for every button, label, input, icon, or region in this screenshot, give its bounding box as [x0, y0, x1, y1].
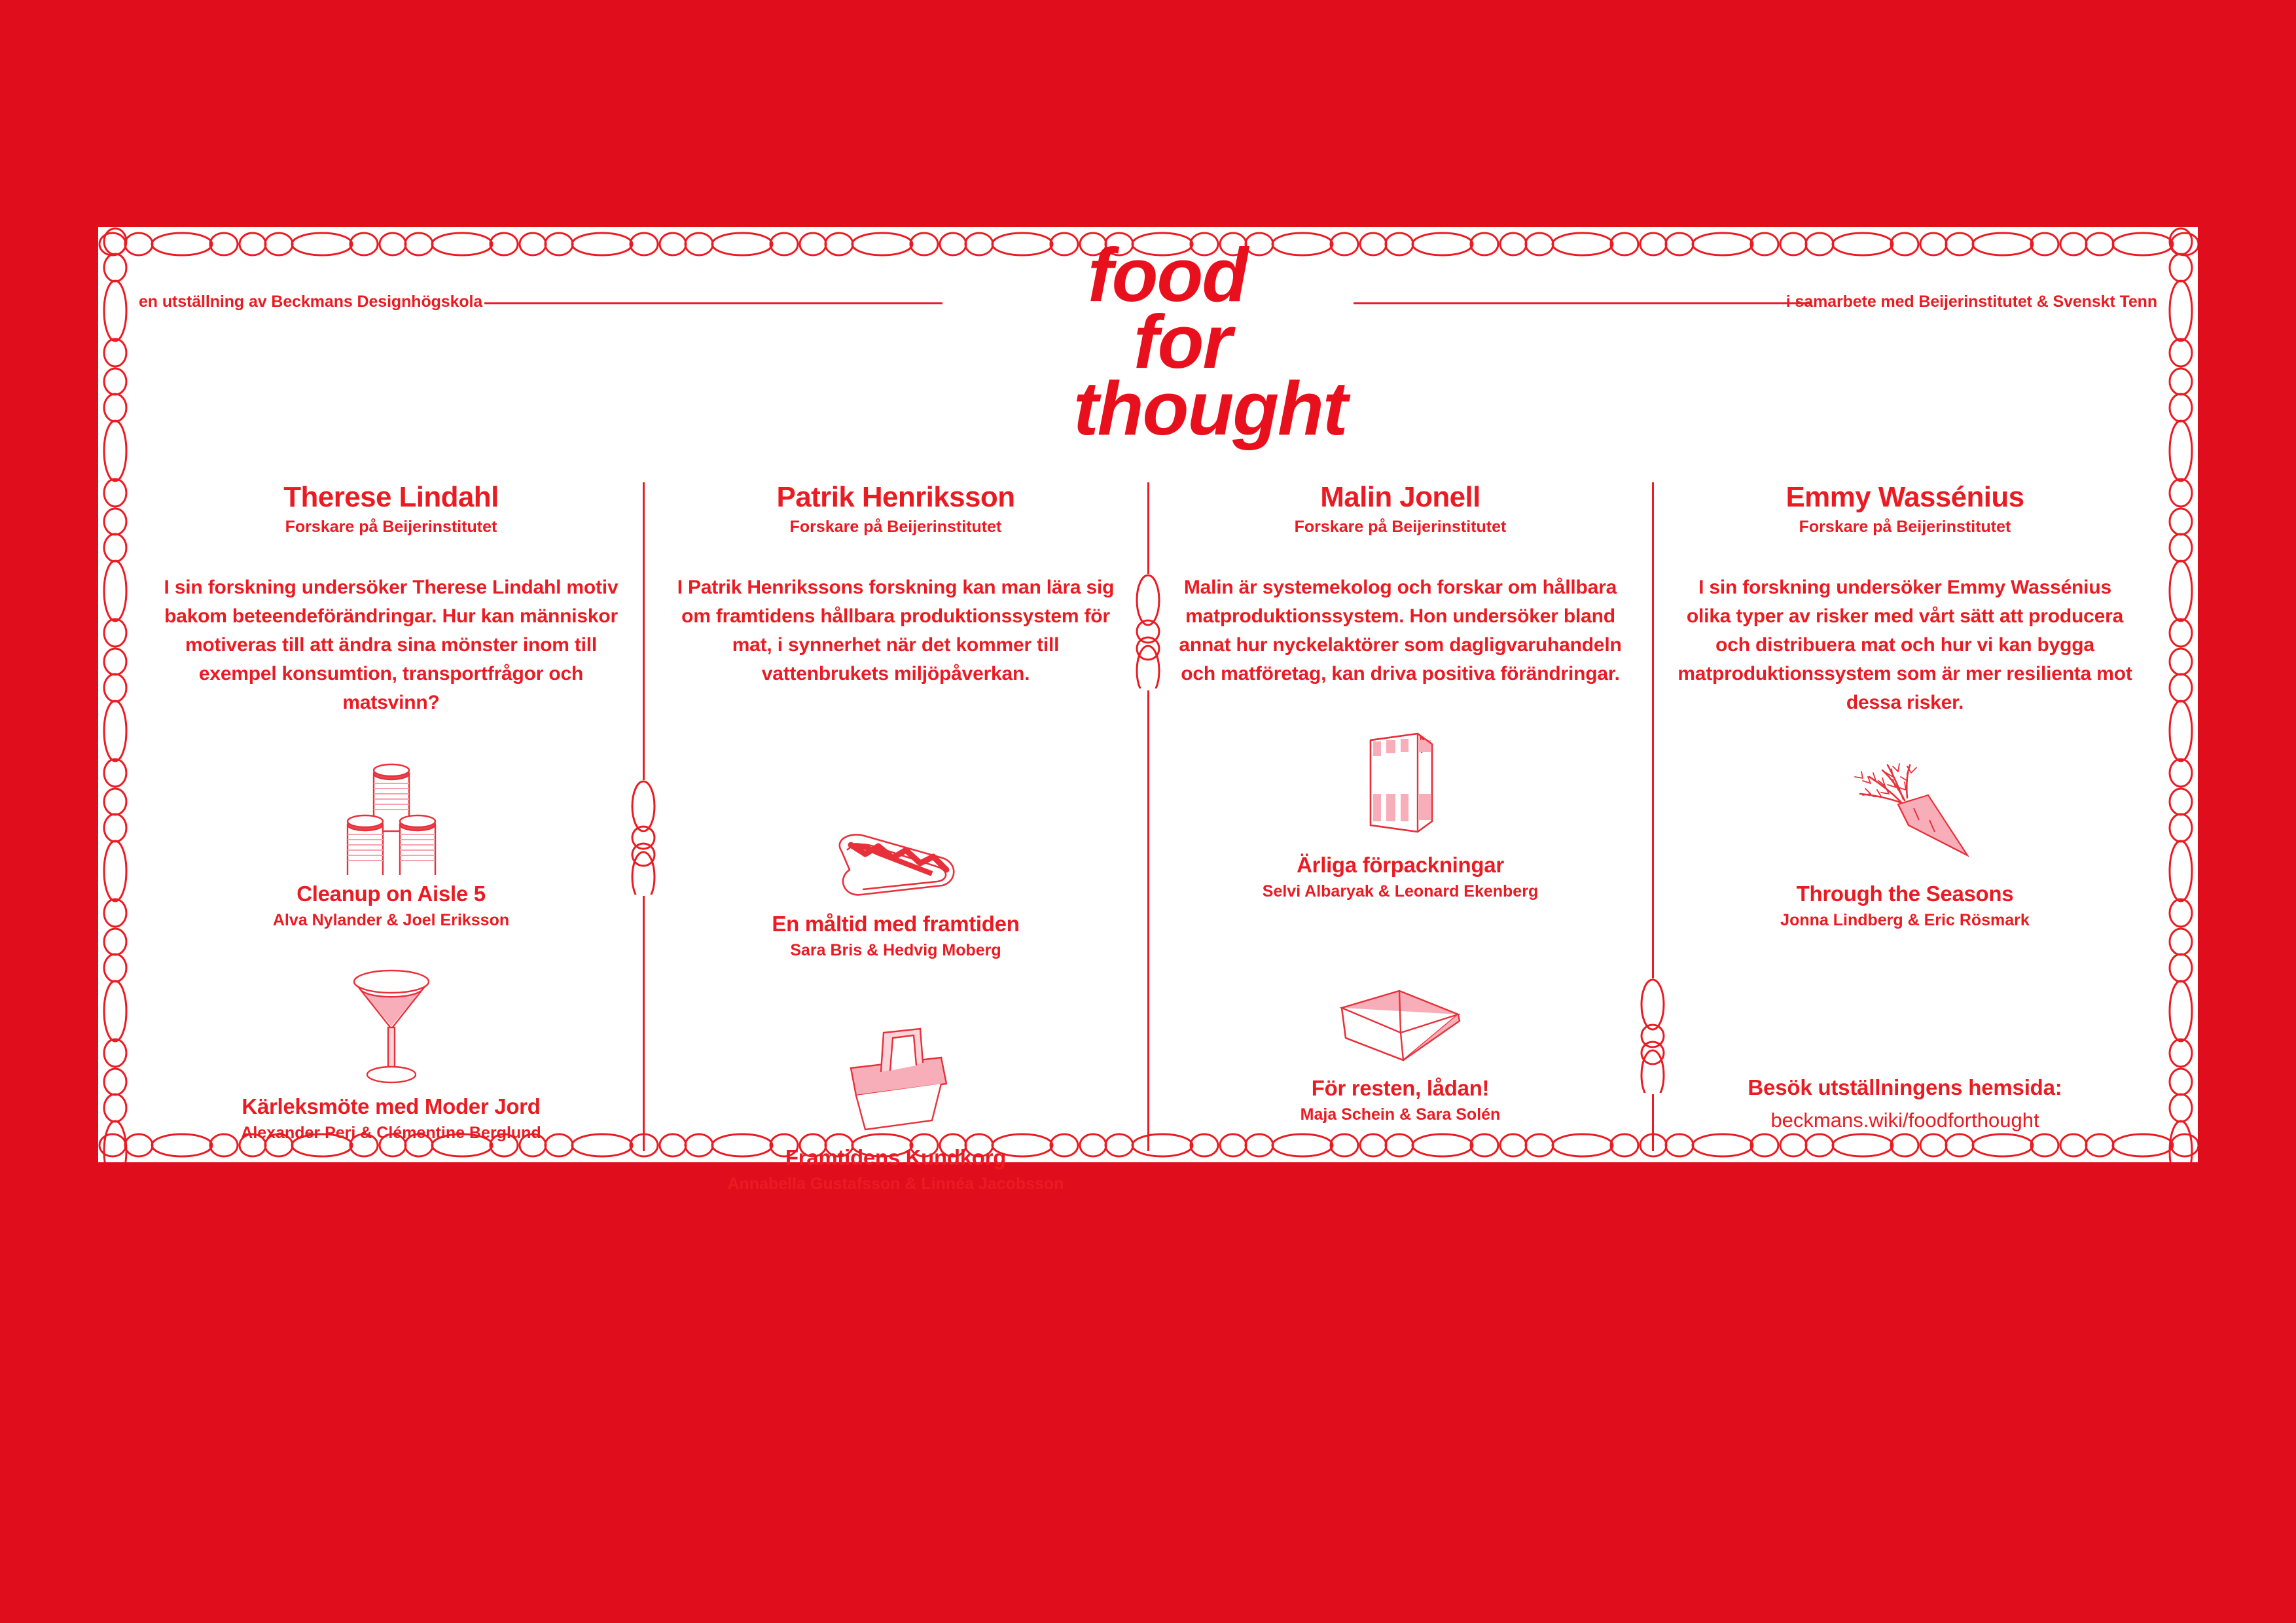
- researcher-bio: I sin forskning undersöker Therese Linda…: [162, 573, 620, 717]
- stacked-cans-icon: [336, 751, 447, 875]
- takeaway-box-icon: [1335, 978, 1466, 1069]
- logo-line-for: for: [1134, 308, 1440, 375]
- project-title: Ärliga förpackningar: [1172, 853, 1629, 878]
- researcher-bio: I Patrik Henrikssons forskning kan man l…: [667, 573, 1124, 688]
- project-title: Framtidens Kundkorg: [667, 1145, 1124, 1170]
- project-artwork: [1172, 942, 1629, 1069]
- project-card[interactable]: En måltid med framtiden Sara Bris & Hedv…: [667, 777, 1124, 960]
- project-card[interactable]: Ärliga förpackningar Selvi Albaryak & Le…: [1172, 719, 1629, 901]
- chain-border-right: [2168, 227, 2194, 1162]
- researcher-name: Therese Lindahl: [162, 482, 620, 512]
- column-emmy-wassenius: Emmy Wassénius Forskare på Beijerinstitu…: [1653, 482, 2157, 1137]
- researcher-name: Patrik Henriksson: [667, 482, 1124, 512]
- website-block[interactable]: Besök utställningens hemsida: beckmans.w…: [1676, 1075, 2134, 1132]
- project-artwork: [162, 960, 620, 1088]
- project-card[interactable]: Through the Seasons Jonna Lindberg & Eri…: [1676, 747, 2134, 930]
- researcher-role: Forskare på Beijerinstitutet: [1172, 518, 1629, 537]
- poster-panel: en utställning av Beckmans Designhögskol…: [98, 227, 2198, 1162]
- project-card[interactable]: Cleanup on Aisle 5 Alva Nylander & Joel …: [162, 747, 620, 930]
- researcher-role: Forskare på Beijerinstitutet: [667, 518, 1124, 537]
- project-artwork: [667, 1011, 1124, 1139]
- project-title: För resten, lådan!: [1172, 1076, 1629, 1101]
- column-malin-jonell: Malin Jonell Forskare på Beijerinstitute…: [1148, 482, 1653, 1137]
- researcher-role: Forskare på Beijerinstitutet: [1676, 518, 2134, 537]
- researcher-name: Malin Jonell: [1172, 482, 1629, 512]
- project-title: Kärleksmöte med Moder Jord: [162, 1094, 620, 1119]
- project-authors: Selvi Albaryak & Leonard Ekenberg: [1172, 882, 1629, 901]
- website-label: Besök utställningens hemsida:: [1676, 1075, 2134, 1100]
- project-authors: Alva Nylander & Joel Eriksson: [162, 911, 620, 930]
- columns-container: Therese Lindahl Forskare på Beijerinstit…: [139, 482, 2157, 1137]
- logo-line-thought: thought: [1073, 375, 1440, 442]
- header-rule-left: [484, 302, 942, 304]
- project-artwork: [667, 777, 1124, 905]
- project-authors: Maja Schein & Sara Solén: [1172, 1105, 1629, 1124]
- carrot-icon: [1830, 757, 1981, 875]
- researcher-name: Emmy Wassénius: [1676, 482, 2134, 512]
- milk-carton-icon: [1355, 722, 1446, 846]
- website-url[interactable]: beckmans.wiki/foodforthought: [1676, 1109, 2134, 1132]
- column-therese-lindahl: Therese Lindahl Forskare på Beijerinstit…: [139, 482, 643, 1137]
- project-title: Cleanup on Aisle 5: [162, 882, 620, 906]
- cocktail-glass-icon: [342, 963, 440, 1088]
- project-authors: Annabella Gustafsson & Linnéa Jacobsson: [667, 1175, 1124, 1194]
- project-card[interactable]: Kärleksmöte med Moder Jord Alexander Per…: [162, 960, 620, 1143]
- header-kicker-left: en utställning av Beckmans Designhögskol…: [139, 293, 482, 312]
- project-authors: Sara Bris & Hedvig Moberg: [667, 941, 1124, 960]
- shopping-basket-icon: [834, 1021, 958, 1139]
- project-authors: Alexander Peri & Clémentine Berglund: [162, 1124, 620, 1143]
- project-artwork: [1676, 747, 2134, 875]
- project-artwork: [1172, 719, 1629, 846]
- project-card[interactable]: För resten, lådan! Maja Schein & Sara So…: [1172, 942, 1629, 1124]
- project-card[interactable]: Framtidens Kundkorg Annabella Gustafsson…: [667, 1011, 1124, 1194]
- hot-dog-icon: [827, 827, 965, 905]
- column-patrik-henriksson: Patrik Henriksson Forskare på Beijerinst…: [643, 482, 1148, 1137]
- researcher-bio: Malin är systemekolog och forskar om hål…: [1172, 573, 1629, 688]
- project-title: En måltid med framtiden: [667, 912, 1124, 936]
- researcher-bio: I sin forskning undersöker Emmy Wasséniu…: [1676, 573, 2134, 717]
- logo-line-food: food: [1088, 241, 1440, 308]
- header-kicker-right: i samarbete med Beijerinstitutet & Svens…: [1786, 293, 2157, 312]
- chain-border-left: [102, 227, 128, 1162]
- researcher-role: Forskare på Beijerinstitutet: [162, 518, 620, 537]
- exhibition-logo: food for thought: [1073, 241, 1440, 444]
- project-authors: Jonna Lindberg & Eric Rösmark: [1676, 911, 2134, 930]
- project-title: Through the Seasons: [1676, 882, 2134, 906]
- project-artwork: [162, 747, 620, 875]
